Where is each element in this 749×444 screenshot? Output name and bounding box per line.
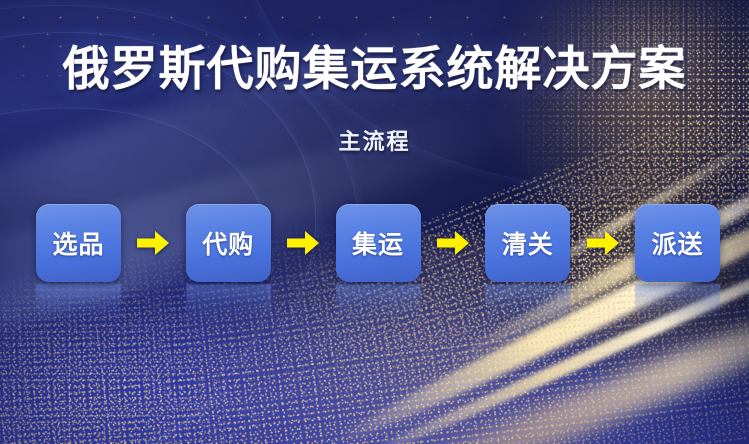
flow-step-reflection	[336, 284, 421, 330]
flow-step-label: 选品	[52, 225, 104, 261]
flow-step-box[interactable]: 集运	[336, 204, 421, 282]
arrow-right-icon	[436, 228, 470, 258]
banner-title: 俄罗斯代购集运系统解决方案	[0, 44, 749, 93]
flow-step-label: 集运	[352, 225, 404, 261]
flow-step-5[interactable]: 派送	[635, 204, 720, 282]
flow-step-label: 清关	[502, 225, 554, 261]
arrow-right-icon	[136, 228, 170, 258]
flow-step-4[interactable]: 清关	[485, 204, 570, 282]
flow-step-label: 派送	[651, 225, 703, 261]
banner-subtitle: 主流程	[0, 124, 749, 156]
flow-step-2[interactable]: 代购	[186, 204, 271, 282]
flow-step-box[interactable]: 清关	[485, 204, 570, 282]
promo-banner: 俄罗斯代购集运系统解决方案 主流程 选品代购集运清关派送	[0, 0, 749, 444]
flow-step-label: 代购	[202, 225, 254, 261]
flow-step-reflection	[485, 284, 570, 330]
flow-step-box[interactable]: 选品	[36, 204, 121, 282]
flow-step-3[interactable]: 集运	[336, 204, 421, 282]
flow-step-reflection	[635, 284, 720, 330]
flow-step-box[interactable]: 代购	[186, 204, 271, 282]
arrow-right-icon	[586, 228, 620, 258]
flow-step-reflection	[36, 284, 121, 330]
flow-step-box[interactable]: 派送	[635, 204, 720, 282]
banner-content: 俄罗斯代购集运系统解决方案 主流程 选品代购集运清关派送	[0, 0, 749, 444]
flow-step-1[interactable]: 选品	[36, 204, 121, 282]
process-flow-diagram: 选品代购集运清关派送	[36, 204, 720, 282]
arrow-right-icon	[286, 228, 320, 258]
flow-step-reflection	[186, 284, 271, 330]
